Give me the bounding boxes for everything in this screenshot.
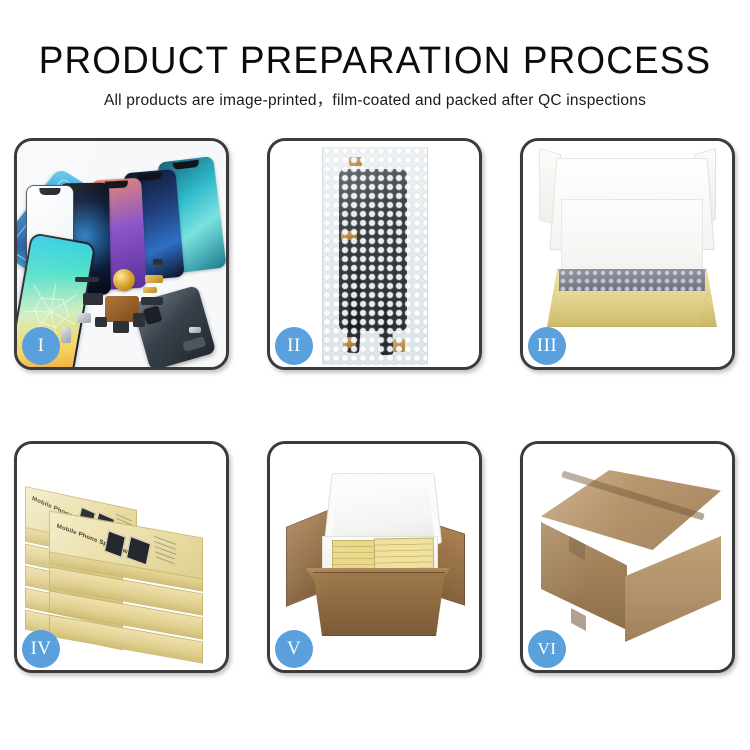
kraft-box-stack: Mobile Phone Spare Parts Mobile Phone Sp… (25, 470, 223, 660)
notch-icon (138, 172, 162, 181)
product-preparation-page: PRODUCT PREPARATION PROCESS All products… (0, 0, 750, 750)
carton-tape-patch-lower (571, 608, 586, 631)
battery-connector-part (61, 327, 71, 343)
step-badge-5: V (275, 630, 313, 668)
bubble-texture (323, 147, 427, 365)
taptic-engine-part (113, 321, 129, 333)
printed-screen-image (126, 536, 151, 565)
step-badge-1: I (22, 327, 60, 365)
gold-connector-part (145, 275, 163, 283)
foam-sheet (561, 199, 703, 275)
kraft-box-front-panel (549, 291, 713, 325)
screwdriver-tip-part (189, 327, 201, 333)
notch-icon (73, 185, 96, 192)
process-step-5[interactable]: V (267, 441, 482, 673)
bubble-wrap-bag (322, 147, 428, 365)
process-step-4[interactable]: Mobile Phone Spare Parts Mobile Phone Sp… (14, 441, 229, 673)
foam-case-lid (324, 473, 442, 544)
label-text-line (154, 536, 176, 545)
process-step-1[interactable]: I (14, 138, 229, 370)
carton-right-face (625, 536, 721, 642)
notch-icon (173, 160, 199, 170)
carton-body (304, 572, 454, 636)
process-step-6[interactable]: VI (520, 441, 735, 673)
header: PRODUCT PREPARATION PROCESS All products… (0, 40, 750, 111)
vibration-motor-part (113, 269, 135, 291)
screw-part (153, 259, 163, 265)
metal-bracket-part (77, 313, 91, 323)
step-badge-3: III (528, 327, 566, 365)
step-badge-4: IV (22, 630, 60, 668)
sim-tray-part (95, 317, 107, 327)
camera-module-part (83, 293, 103, 305)
step-badge-6: VI (528, 630, 566, 668)
gold-contact-part (143, 287, 157, 293)
flex-cable-part (141, 297, 163, 305)
notch-icon (39, 188, 60, 195)
charging-port-part (133, 313, 145, 327)
page-subtitle: All products are image-printed，film-coat… (0, 91, 750, 111)
process-step-grid: I II (14, 138, 736, 673)
earpiece-speaker-part (75, 277, 99, 282)
process-step-3[interactable]: III (520, 138, 735, 370)
page-title: PRODUCT PREPARATION PROCESS (11, 40, 739, 82)
step-badge-2: II (275, 327, 313, 365)
process-step-2[interactable]: II (267, 138, 482, 370)
